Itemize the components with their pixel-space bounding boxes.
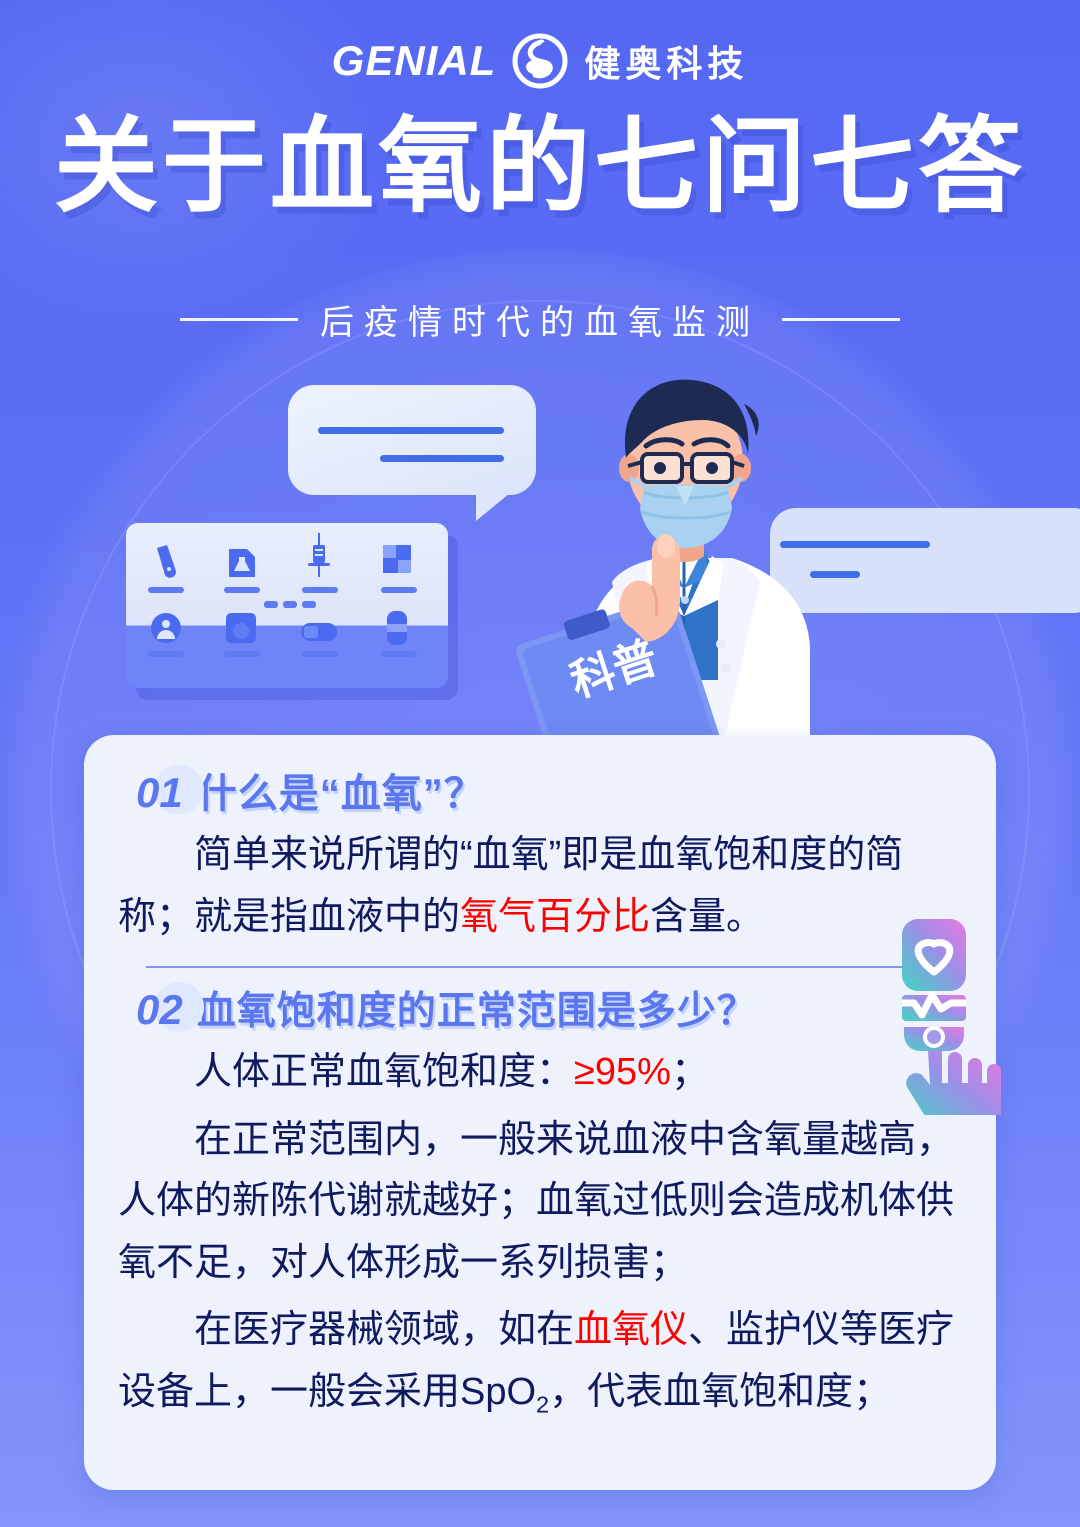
highlight-text: ≥95% (574, 1051, 671, 1093)
section-divider (146, 966, 952, 968)
section-title-01: 什么是“血氧”？ (197, 761, 485, 819)
content-card: 01 什么是“血氧”？ 简单来说所谓的“血氧”即是血氧饱和度的简称；就是指血液中… (84, 735, 996, 1490)
icon-underline (302, 651, 338, 657)
section-01-header: 01 什么是“血氧”？ (118, 761, 962, 819)
capsule-icon (301, 623, 337, 646)
brand-wordmark: GENIAL (332, 37, 497, 85)
person-icon (151, 613, 181, 648)
section-02-paragraph-2: 在正常范围内，一般来说血液中含氧量越高，人体的新陈代谢就越好；血氧过低则会造成机… (118, 1110, 962, 1295)
highlight-text: 氧气百分比 (460, 896, 650, 938)
subtitle-rule-left (180, 318, 298, 321)
brand-header: GENIAL 健奥科技 (0, 32, 1080, 90)
test-tube-icon (154, 545, 180, 584)
poster-root: GENIAL 健奥科技 关于血氧的七问七答 后疫情时代的血氧监测 (0, 0, 1080, 1527)
icon-underline (148, 651, 184, 657)
icon-underline (224, 587, 260, 593)
bottle-icon (229, 545, 255, 582)
fingertip-pulse-oximeter-icon (886, 915, 1014, 1115)
icon-underline (381, 651, 417, 657)
brand-chinese-name: 健奥科技 (584, 35, 748, 87)
highlight-text: 血氧仪 (574, 1309, 688, 1351)
section-02-header: 02 血氧饱和度的正常范围是多少？ (118, 980, 962, 1036)
doctor-illustration: 科普 (470, 350, 890, 750)
section-number-02: 02 (136, 986, 183, 1034)
icon-underline (148, 587, 184, 593)
medical-cabinet (126, 523, 448, 688)
genial-circle-logo-icon (512, 33, 568, 89)
icon-underline (302, 587, 338, 593)
section-02-paragraph-1: 人体正常血氧饱和度：≥95%； (118, 1042, 962, 1104)
page-subtitle: 后疫情时代的血氧监测 (320, 295, 760, 344)
icon-underline (224, 651, 260, 657)
section-02-paragraph-3: 在医疗器械领域，如在血氧仪、监护仪等医疗设备上，一般会采用SpO2，代表血氧饱和… (118, 1300, 962, 1423)
divider-dash (302, 601, 316, 608)
box-icon (383, 545, 411, 578)
spo2-subscript: 2 (536, 1391, 549, 1417)
section-number-01: 01 (136, 769, 183, 817)
subtitle-rule-right (782, 318, 900, 321)
page-title: 关于血氧的七问七答 (0, 108, 1080, 228)
bandage-icon (387, 611, 407, 650)
icon-underline (381, 587, 417, 593)
section-01-paragraph-1: 简单来说所谓的“血氧”即是血氧饱和度的简称；就是指血液中的氧气百分比含量。 (118, 825, 962, 948)
divider-dash (264, 601, 278, 608)
hero-illustration: 科普 (0, 355, 1080, 755)
syringe-icon (306, 533, 332, 584)
subtitle-row: 后疫情时代的血氧监测 (0, 295, 1080, 344)
divider-dash (283, 601, 297, 608)
section-title-02: 血氧饱和度的正常范围是多少？ (197, 980, 757, 1036)
rounded-square-icon (226, 613, 256, 648)
